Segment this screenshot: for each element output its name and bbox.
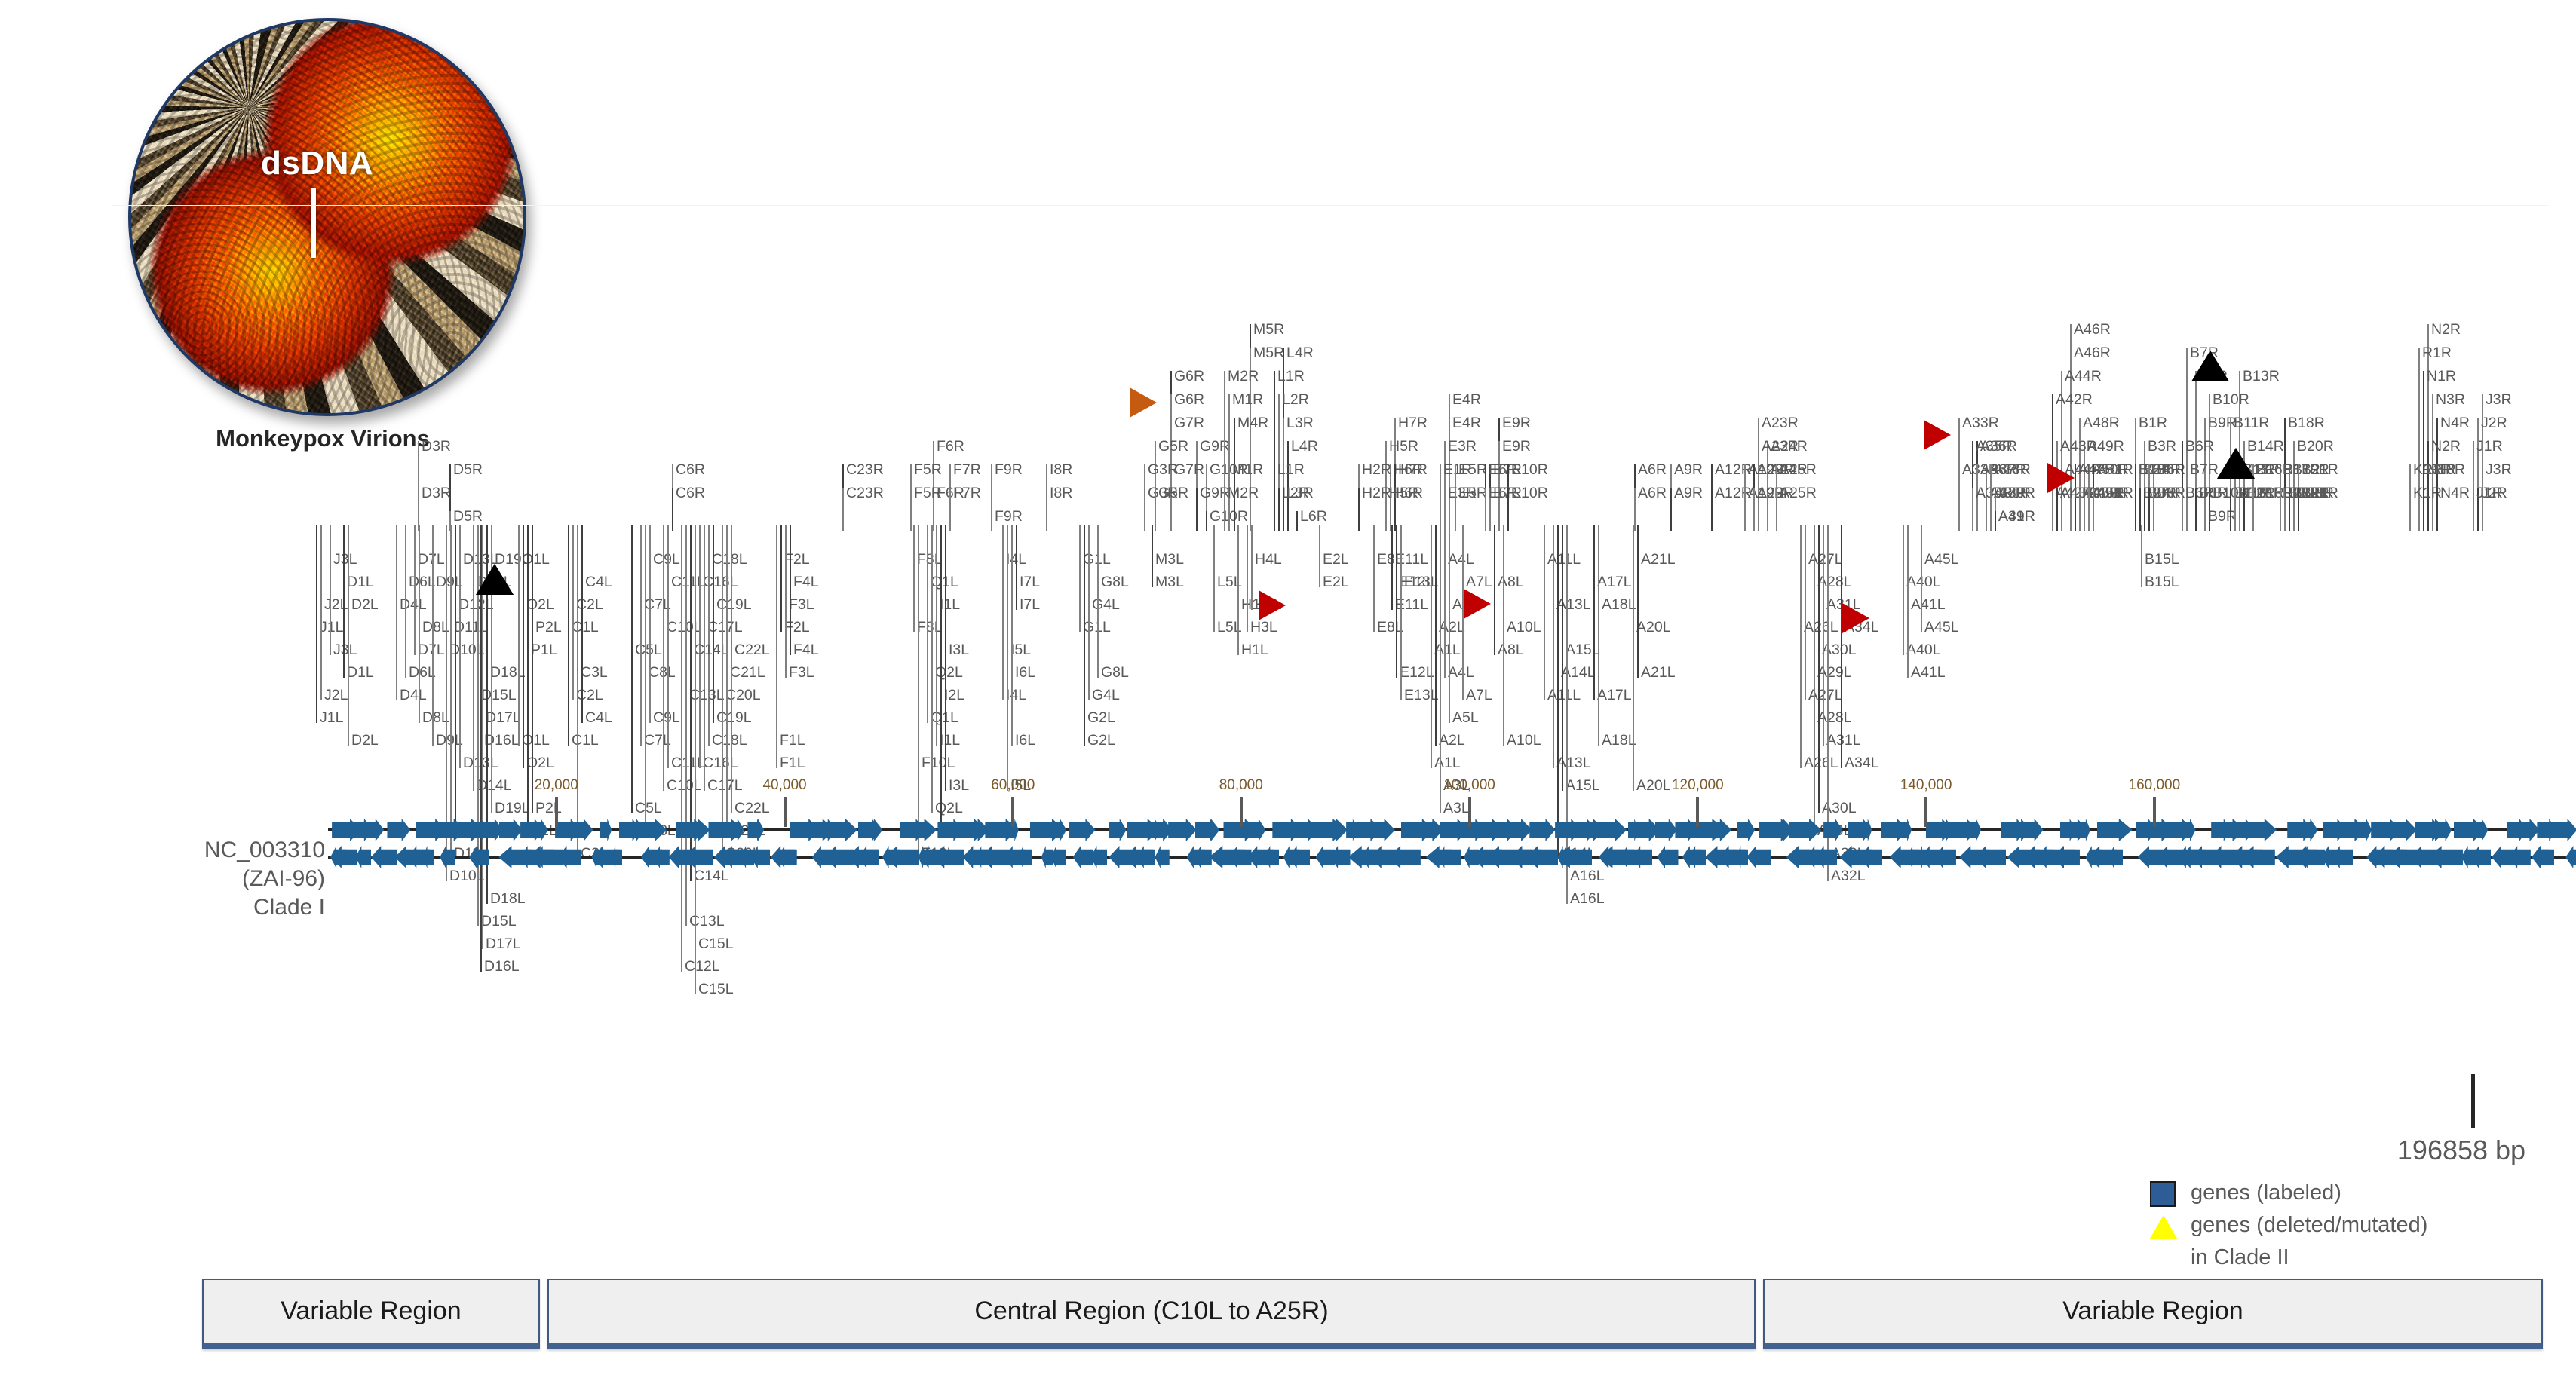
gene-label: D1L xyxy=(347,666,374,681)
gene-leader-line xyxy=(450,525,452,859)
gene-label: D18L xyxy=(490,666,526,681)
axis-tick-mark xyxy=(784,797,787,827)
gene-label: H4L xyxy=(1255,553,1282,568)
gene-leader-line xyxy=(432,525,434,746)
gene-arrow xyxy=(1935,846,1956,868)
blue-square-icon xyxy=(2150,1180,2191,1208)
gene-leader-line xyxy=(1634,488,1636,531)
gene-leader-line xyxy=(931,525,933,813)
gene-label: A21L xyxy=(1641,553,1676,568)
gene-leader-line xyxy=(568,525,569,746)
gene-label: E13L xyxy=(1404,575,1439,590)
gene-label: C15L xyxy=(698,982,734,997)
gene-label: E4R xyxy=(1452,416,1481,431)
gene-label: N4R xyxy=(2440,486,2470,501)
gene-leader-line xyxy=(1990,464,1992,531)
gene-label: R1R xyxy=(2422,346,2452,361)
dsdna-label: dsDNA xyxy=(261,145,373,182)
gene-leader-line xyxy=(1002,525,1004,700)
yellow-triangle-marker-icon xyxy=(2220,451,2252,478)
gene-label: C1L xyxy=(572,733,599,749)
gene-label: G6R xyxy=(1174,393,1204,408)
gene-label: I1L xyxy=(940,598,960,613)
genome-length-label: 196858 bp xyxy=(2337,1135,2576,1166)
gene-leader-line xyxy=(1503,525,1504,746)
red-triangle-marker-icon xyxy=(1842,603,1869,633)
gene-label: G6R xyxy=(1174,369,1204,384)
gene-leader-line xyxy=(1046,488,1047,531)
gene-label: B15L xyxy=(2145,553,2179,568)
gene-leader-line xyxy=(1440,464,1441,531)
gene-label: A41L xyxy=(1911,598,1946,613)
gene-label: A17L xyxy=(1597,688,1632,703)
gene-label: O1L xyxy=(522,733,550,749)
gene-label: A23R xyxy=(1762,439,1799,455)
gene-leader-line xyxy=(2052,488,2053,531)
gene-leader-line xyxy=(1494,525,1495,655)
gene-leader-line xyxy=(726,525,728,836)
axis-tick-mark xyxy=(555,797,558,827)
gene-arrow xyxy=(1289,846,1311,868)
gene-leader-line xyxy=(776,525,777,768)
gene-leader-line xyxy=(949,488,951,531)
gene-arrow xyxy=(1737,819,1756,841)
gene-label: A43R xyxy=(2060,439,2097,455)
red-triangle-marker-icon xyxy=(2047,463,2075,493)
gene-label: A6R xyxy=(1638,486,1667,501)
gene-label: L3R xyxy=(1286,486,1314,501)
gene-leader-line xyxy=(1972,488,1973,531)
gene-leader-line xyxy=(577,525,578,859)
gene-label: N3R xyxy=(2436,393,2465,408)
gene-label: L1R xyxy=(1277,369,1305,384)
axis-tick-label: 40,000 xyxy=(762,777,806,794)
genome-region-bars: Variable Region Central Region (C10L to … xyxy=(202,1279,2543,1349)
gene-leader-line xyxy=(663,525,664,791)
gene-label: A8L xyxy=(1498,643,1524,658)
gene-label: B6R xyxy=(2185,439,2214,455)
accession-line-1: NC_003310 xyxy=(112,836,325,865)
gene-leader-line xyxy=(1444,525,1446,678)
gene-leader-line xyxy=(1805,525,1806,700)
axis-tick-label: 140,000 xyxy=(1900,777,1952,794)
gene-label: A45L xyxy=(1924,553,1959,568)
gene-arrow xyxy=(2428,846,2463,868)
gene-leader-line xyxy=(1296,511,1298,531)
gene-leader-line xyxy=(1562,525,1563,791)
axis-tick-mark xyxy=(1240,797,1243,827)
gene-arrow xyxy=(1049,819,1066,841)
gene-leader-line xyxy=(1283,488,1284,531)
gene-arrow xyxy=(2053,846,2080,868)
legend-label-genes-deleted-line2: in Clade II xyxy=(2191,1245,2576,1271)
gene-leader-line xyxy=(1823,525,1824,746)
gene-leader-line xyxy=(1237,525,1239,655)
gene-label: A25R xyxy=(1780,463,1817,478)
gene-label: A25R xyxy=(1780,486,1817,501)
gene-label: A5L xyxy=(1452,711,1479,726)
gene-label: D4L xyxy=(400,688,427,703)
gene-label: M2R xyxy=(1228,369,1259,384)
gene-leader-line xyxy=(1814,525,1815,836)
gene-arrow xyxy=(2298,819,2318,841)
gene-label: F2L xyxy=(784,553,810,568)
gene-label: F2L xyxy=(784,620,810,635)
gene-label: A26L xyxy=(1804,620,1838,635)
axis-tick-label: 120,000 xyxy=(1672,777,1724,794)
gene-label: D17L xyxy=(486,937,521,952)
axis-tick-mark xyxy=(1696,797,1699,827)
gene-arrow xyxy=(1529,819,1555,841)
gene-label: D15L xyxy=(481,914,517,929)
gene-label: D7L xyxy=(418,553,445,568)
gene-label: J3L xyxy=(333,553,357,568)
gene-label: D7L xyxy=(418,643,445,658)
gene-label: A6R xyxy=(1638,463,1667,478)
gene-label: G4L xyxy=(1092,598,1120,613)
gene-leader-line xyxy=(2153,488,2154,531)
gene-label: J2R xyxy=(2481,416,2507,431)
gene-label: A44R xyxy=(2065,369,2102,384)
gene-label: A26L xyxy=(1804,756,1838,771)
gene-label: A7L xyxy=(1466,688,1492,703)
gene-arrow xyxy=(600,819,612,841)
gene-label: C18L xyxy=(712,553,747,568)
gene-label: B20R xyxy=(2297,439,2334,455)
gene-leader-line xyxy=(1097,525,1099,678)
gene-label: A33R xyxy=(1962,416,1999,431)
gene-label: C5L xyxy=(635,801,662,816)
gene-leader-line xyxy=(1444,488,1446,531)
gene-leader-line xyxy=(1633,525,1634,791)
gene-label: A20L xyxy=(1636,779,1671,794)
gene-arrow xyxy=(1860,819,1872,841)
gene-leader-line xyxy=(1400,525,1402,700)
gene-label: F4L xyxy=(793,575,819,590)
gene-label: C22L xyxy=(734,801,770,816)
yellow-triangle-marker-icon xyxy=(2194,354,2226,381)
gene-leader-line xyxy=(316,525,317,723)
gene-arrow xyxy=(1265,846,1279,868)
gene-label: F7R xyxy=(953,463,981,478)
gene-label: A46R xyxy=(2074,323,2111,338)
gene-label: L4R xyxy=(1291,439,1318,455)
gene-leader-line xyxy=(1224,488,1225,531)
gene-arrow xyxy=(499,819,523,841)
gene-leader-line xyxy=(1011,525,1013,746)
gene-label: J1L xyxy=(320,620,343,635)
gene-arrow xyxy=(469,846,489,868)
gene-arrow xyxy=(1700,819,1731,841)
gene-label: E2L xyxy=(1323,553,1349,568)
gene-arrow xyxy=(1109,819,1127,841)
gene-arrow xyxy=(2244,819,2277,841)
gene-label: F5R xyxy=(914,463,942,478)
gene-label: G5R xyxy=(1158,486,1188,501)
gene-leader-line xyxy=(1247,525,1248,632)
gene-leader-line xyxy=(1544,525,1545,700)
gene-arrow xyxy=(1388,846,1421,868)
gene-label: C10L xyxy=(667,779,702,794)
gene-label: B16R xyxy=(2256,463,2293,478)
gene-label: A34L xyxy=(1845,756,1879,771)
gene-arrow xyxy=(1736,846,1748,868)
gene-leader-line xyxy=(1440,525,1441,813)
gene-label: L2R xyxy=(1282,393,1309,408)
gene-label: E10R xyxy=(1511,463,1548,478)
gene-label: F1L xyxy=(780,733,805,749)
gene-leader-line xyxy=(527,525,529,836)
gene-label: E12L xyxy=(1400,666,1434,681)
gene-leader-line xyxy=(785,525,787,678)
region-central[interactable]: Central Region (C10L to A25R) xyxy=(547,1279,1756,1349)
gene-leader-line xyxy=(572,525,574,700)
gene-label: J2L xyxy=(324,688,348,703)
region-variable-left[interactable]: Variable Region xyxy=(202,1279,540,1349)
gene-leader-line xyxy=(1196,488,1198,531)
gene-leader-line xyxy=(927,525,928,723)
gene-label: O1L xyxy=(522,553,550,568)
accession-line-3: Clade I xyxy=(112,893,325,922)
gene-leader-line xyxy=(455,525,456,836)
gene-label: F5R xyxy=(914,486,942,501)
gene-leader-line xyxy=(991,511,992,531)
gene-arrow xyxy=(750,846,770,868)
gene-leader-line xyxy=(1088,525,1090,700)
gene-leader-line xyxy=(695,525,696,994)
gene-leader-line xyxy=(1084,525,1085,746)
gene-leader-line xyxy=(1155,488,1156,531)
gene-arrow xyxy=(2357,819,2372,841)
gene-label: C2L xyxy=(576,598,603,613)
gene-label: A9R xyxy=(1674,463,1703,478)
accession-line-2: (ZAI-96) xyxy=(112,865,325,893)
genome-accession-label: NC_003310 (ZAI-96) Clade I xyxy=(112,836,325,921)
gene-label: D16L xyxy=(484,733,520,749)
gene-leader-line xyxy=(708,525,710,746)
gene-label: B10R xyxy=(2213,393,2249,408)
gene-arrow xyxy=(1526,846,1558,868)
gene-label: H7R xyxy=(1398,463,1428,478)
gene-label: I3L xyxy=(949,779,969,794)
gene-label: L3R xyxy=(1286,416,1314,431)
gene-label: I6L xyxy=(1015,733,1035,749)
gene-arrow xyxy=(1018,846,1033,868)
gene-leader-line xyxy=(405,525,406,678)
axis-tick-mark xyxy=(2153,797,2156,827)
gene-leader-line xyxy=(681,525,682,972)
gene-leader-line xyxy=(2093,488,2094,531)
gene-label: B17R xyxy=(2283,486,2320,501)
gene-label: B11R xyxy=(2234,416,2269,431)
gene-label: I1L xyxy=(940,733,960,749)
gene-label: F3L xyxy=(789,666,814,681)
gene-label: A41L xyxy=(1911,666,1946,681)
gene-label: N2R xyxy=(2431,439,2461,455)
gene-leader-line xyxy=(1144,488,1145,531)
gene-label: C9L xyxy=(653,711,680,726)
gene-leader-line xyxy=(780,525,782,632)
region-variable-right[interactable]: Variable Region xyxy=(1763,1279,2543,1349)
gene-arrow xyxy=(2565,846,2576,868)
red-triangle-marker-icon xyxy=(1464,589,1491,619)
gene-label: A16L xyxy=(1570,892,1605,907)
gene-label: M5R xyxy=(1253,346,1284,361)
gene-arrow xyxy=(918,846,931,868)
gene-leader-line xyxy=(1507,488,1509,531)
gene-label: B7R xyxy=(2190,463,2219,478)
gene-arrow xyxy=(2332,846,2353,868)
gene-leader-line xyxy=(1455,488,1456,531)
gene-label: M2R xyxy=(1228,486,1259,501)
gene-label: B13R xyxy=(2243,369,2280,384)
gene-label: A46R xyxy=(2074,346,2111,361)
gene-label: C9L xyxy=(653,553,680,568)
gene-arrow xyxy=(2097,819,2133,841)
gene-label: C8L xyxy=(649,666,676,681)
gene-arrow xyxy=(884,846,919,868)
axis-tick-mark xyxy=(1924,797,1927,827)
gene-arrow xyxy=(612,846,622,868)
gene-label: F3L xyxy=(789,598,814,613)
gene-leader-line xyxy=(1251,525,1253,610)
gene-leader-line xyxy=(631,525,633,813)
gene-label: E9R xyxy=(1502,416,1531,431)
legend-label-genes-labeled: genes (labeled) xyxy=(2191,1180,2341,1206)
gene-arrow xyxy=(1596,819,1627,841)
gene-leader-line xyxy=(1274,464,1275,531)
gene-label: E10R xyxy=(1511,486,1548,501)
gene-leader-line xyxy=(910,488,912,531)
gene-label: C16L xyxy=(703,756,738,771)
gene-label: C21L xyxy=(730,666,765,681)
gene-arrow xyxy=(1628,819,1639,841)
gene-arrow xyxy=(1090,846,1107,868)
gene-label: C10L xyxy=(667,620,702,635)
gene-label: A35R xyxy=(1976,486,2013,501)
gene-leader-line xyxy=(1016,525,1017,610)
gene-arrow xyxy=(1655,819,1677,841)
gene-leader-line xyxy=(1152,525,1153,587)
gene-label: J1R xyxy=(2476,486,2503,501)
gene-label: A51R xyxy=(2096,486,2133,501)
gene-label: F10L xyxy=(922,756,955,771)
gene-arrow xyxy=(2509,846,2531,868)
gene-leader-line xyxy=(945,525,946,791)
gene-label: L4R xyxy=(1286,346,1314,361)
gene-label: G7R xyxy=(1174,416,1204,431)
axis-tick-label: 20,000 xyxy=(535,777,578,794)
gene-leader-line xyxy=(1213,525,1215,632)
gene-label: G7R xyxy=(1174,463,1204,478)
gene-arrow xyxy=(1247,819,1265,841)
gene-label: A15L xyxy=(1566,779,1600,794)
gene-label: G2L xyxy=(1087,711,1115,726)
gene-leader-line xyxy=(2182,488,2183,531)
gene-leader-line xyxy=(491,525,492,565)
gene-label: B15L xyxy=(2145,575,2179,590)
gene-label: C6R xyxy=(676,486,705,501)
gene-label: B6R xyxy=(2185,486,2214,501)
gene-label: F9R xyxy=(995,463,1023,478)
gene-label: Q2L xyxy=(935,666,963,681)
gene-leader-line xyxy=(2141,525,2142,587)
genome-axis xyxy=(328,828,2575,874)
gene-leader-line xyxy=(1373,525,1375,632)
gene-leader-line xyxy=(731,525,732,813)
gene-arrow xyxy=(1816,846,1838,868)
gene-label: C12L xyxy=(685,960,720,975)
gene-leader-line xyxy=(1206,511,1207,531)
gene-label: J3L xyxy=(333,643,357,658)
gene-label: I8R xyxy=(1050,486,1072,501)
gene-arrow xyxy=(1973,846,2006,868)
gene-leader-line xyxy=(936,525,937,746)
gene-leader-line xyxy=(581,525,583,723)
gene-label: B21R xyxy=(2302,463,2338,478)
gene-leader-line xyxy=(2473,488,2474,531)
gene-leader-line xyxy=(790,525,791,655)
gene-arrow xyxy=(1197,819,1220,841)
gene-label: A38R xyxy=(1994,463,2031,478)
gene-leader-line xyxy=(640,525,642,746)
gene-label: C3L xyxy=(581,666,608,681)
gene-label: E13L xyxy=(1404,688,1439,703)
gene-arrow xyxy=(903,819,937,841)
gene-label: C4L xyxy=(585,711,612,726)
gene-label: D16L xyxy=(484,960,520,975)
gene-label: C23R xyxy=(846,486,884,501)
gene-label: A17L xyxy=(1597,575,1632,590)
gene-label: J1L xyxy=(320,711,343,726)
gene-leader-line xyxy=(722,525,723,859)
gene-arrow xyxy=(1144,819,1161,841)
gene-label: C18L xyxy=(712,733,747,749)
gene-label: A10L xyxy=(1507,620,1541,635)
gene-label: J3R xyxy=(2486,463,2512,478)
gene-label: H6R xyxy=(1394,486,1423,501)
gene-leader-line xyxy=(523,525,524,768)
gene-leader-line xyxy=(1637,525,1639,678)
gene-leader-line xyxy=(1670,488,1672,531)
gene-label: E5R xyxy=(1458,463,1487,478)
gene-leader-line xyxy=(1007,525,1008,791)
gene-label: D3R xyxy=(422,439,451,455)
gene-label: N1R xyxy=(2427,369,2456,384)
gene-leader-line xyxy=(1711,488,1713,531)
gene-label: O2L xyxy=(526,756,554,771)
gene-label: B18R xyxy=(2288,416,2325,431)
gene-leader-line xyxy=(649,525,651,723)
gene-arrow xyxy=(2240,846,2275,868)
gene-label: H2R xyxy=(1362,486,1391,501)
gene-label: G8L xyxy=(1101,666,1129,681)
gene-label: B9R xyxy=(2208,510,2237,525)
gene-arrow xyxy=(1657,846,1678,868)
gene-arrow xyxy=(2471,846,2491,868)
gene-leader-line xyxy=(1435,525,1437,746)
gene-label: F8L xyxy=(917,620,943,635)
gene-label: A45L xyxy=(1924,620,1959,635)
gene-label: I8R xyxy=(1050,463,1072,478)
gene-leader-line xyxy=(348,525,349,746)
gene-leader-line xyxy=(2088,488,2090,531)
gene-leader-line xyxy=(1995,511,1996,531)
gene-label: D12L xyxy=(458,598,494,613)
gene-label: A40L xyxy=(1906,643,1941,658)
gene-label: B9R xyxy=(2208,416,2237,431)
gene-label: I2L xyxy=(944,688,964,703)
